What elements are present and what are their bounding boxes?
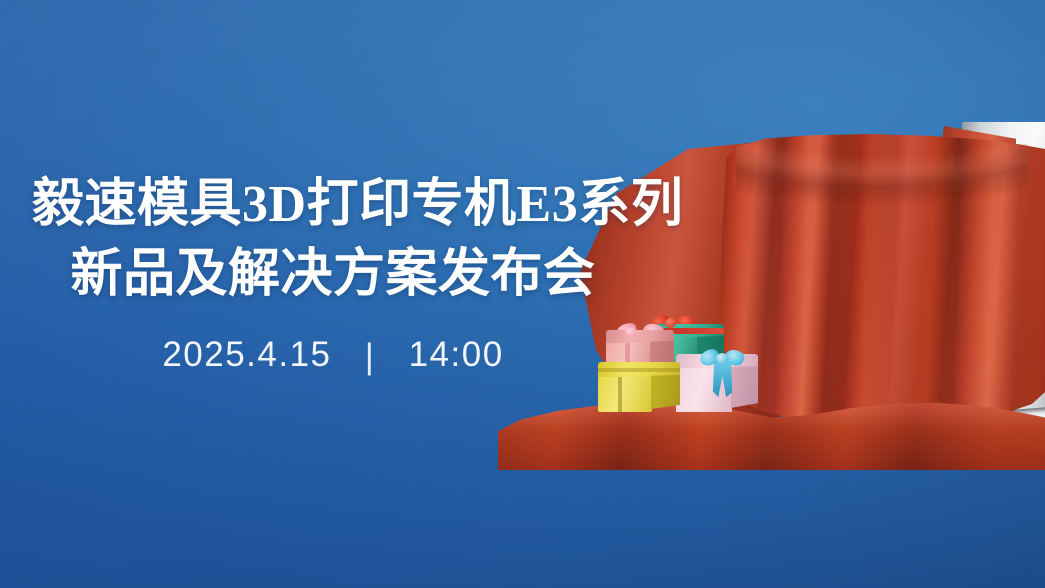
- event-title-line-1: 毅速模具3D打印专机E3系列: [0, 170, 700, 240]
- gift-ribbon-vertical: [618, 377, 622, 412]
- bow-red-knot: [665, 318, 676, 328]
- datetime-separator: |: [365, 337, 376, 377]
- bow-blue-tail-right: [720, 361, 735, 398]
- event-announcement-banner: 毅速模具3D打印专机E3系列 新品及解决方案发布会 2025.4.15 | 14…: [0, 0, 1045, 588]
- event-title-line-2: 新品及解决方案发布会: [0, 240, 700, 310]
- bow-blue-icon: [700, 346, 744, 400]
- event-date: 2025.4.15: [162, 335, 331, 374]
- gift-front-face: [598, 377, 652, 412]
- event-time: 14:00: [409, 335, 504, 374]
- bow-blue-knot: [716, 353, 728, 364]
- event-datetime: 2025.4.15 | 14:00: [0, 335, 700, 375]
- bow-pink-knot: [625, 327, 636, 337]
- gift-side-face: [651, 375, 680, 409]
- headline-block: 毅速模具3D打印专机E3系列 新品及解决方案发布会 2025.4.15 | 14…: [0, 170, 700, 375]
